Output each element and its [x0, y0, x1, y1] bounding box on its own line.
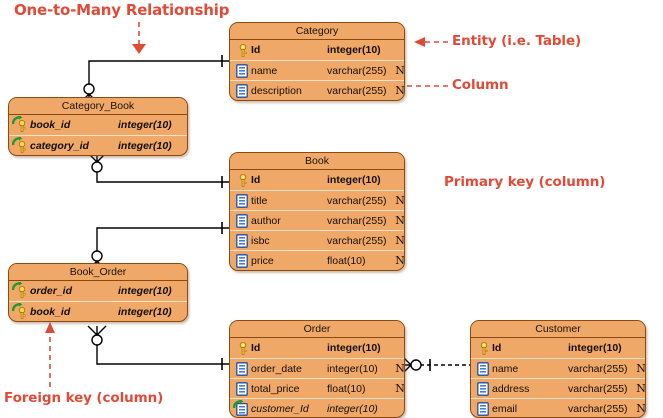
nullable-flag: N [393, 214, 405, 227]
column-icon [475, 380, 492, 398]
table-row[interactable]: Id integer(10) [230, 40, 404, 60]
table-row[interactable]: Id integer(10) [230, 338, 404, 358]
column-icon [234, 62, 251, 80]
column-type: integer(10) [327, 403, 393, 415]
key-fk-icon [13, 303, 30, 321]
column-name: Id [251, 342, 327, 354]
column-type: varchar(255) [327, 65, 393, 77]
column-fk-icon [234, 400, 251, 418]
column-type: integer(10) [327, 174, 393, 186]
column-icon [234, 212, 251, 230]
column-icon [475, 400, 492, 418]
entity-columns: Id integer(10) name varchar(255) N addre… [471, 338, 645, 418]
column-icon [234, 192, 251, 210]
column-type: varchar(255) [568, 403, 634, 415]
column-name: book_id [30, 306, 118, 318]
column-type: varchar(255) [568, 363, 634, 375]
entity-title: Book_Order [9, 264, 187, 281]
column-name: name [251, 65, 327, 77]
column-name: price [251, 255, 327, 267]
nullable-flag: N [393, 234, 405, 247]
column-name: Id [251, 44, 327, 56]
column-name: title [251, 195, 327, 207]
entity-category-book[interactable]: Category_Book book_id integer(10) catego… [8, 97, 188, 156]
relationship-order-book_order [88, 326, 229, 370]
column-name: isbc [251, 235, 327, 247]
relationship-book-category_book [88, 153, 229, 188]
entity-title: Category [230, 23, 404, 40]
column-icon [234, 252, 251, 270]
annotation-entity: Entity (i.e. Table) [452, 33, 581, 49]
column-type: float(10) [327, 255, 393, 267]
column-name: order_id [30, 285, 118, 297]
key-icon [234, 41, 251, 59]
entity-columns: Id integer(10) title varchar(255) N auth… [230, 170, 404, 270]
table-row[interactable]: order_id integer(10) [9, 281, 187, 301]
column-name: Id [492, 342, 568, 354]
nullable-flag: N [634, 362, 646, 375]
table-row[interactable]: author varchar(255) N [230, 210, 404, 230]
entity-title: Customer [471, 321, 645, 338]
relationship-customer-order [402, 356, 470, 374]
key-fk-icon [13, 282, 30, 300]
foreign-key-annotation-leader [45, 322, 55, 387]
table-row[interactable]: description varchar(255) N [230, 80, 404, 100]
column-type: integer(10) [118, 285, 184, 297]
table-row[interactable]: customer_Id integer(10) [230, 398, 404, 418]
column-icon [234, 82, 251, 100]
table-row[interactable]: Id integer(10) [230, 170, 404, 190]
column-type: float(10) [327, 383, 393, 395]
entity-order[interactable]: Order Id integer(10) order_date integer(… [229, 320, 405, 418]
column-name: customer_Id [251, 403, 327, 415]
table-row[interactable]: address varchar(255) N [471, 378, 645, 398]
table-row[interactable]: isbc varchar(255) N [230, 230, 404, 250]
column-name: address [492, 383, 568, 395]
annotation-foreign-key: Foreign key (column) [4, 390, 163, 406]
diagram-heading: One-to-Many Relationship [14, 1, 229, 19]
column-type: integer(10) [118, 140, 184, 152]
entity-title: Book [230, 153, 404, 170]
column-type: varchar(255) [568, 383, 634, 395]
entity-book-order[interactable]: Book_Order order_id integer(10) book_id … [8, 263, 188, 322]
column-type: integer(10) [118, 119, 184, 131]
column-type: integer(10) [327, 342, 393, 354]
key-fk-icon [13, 116, 30, 134]
column-icon [234, 360, 251, 378]
column-name: book_id [30, 119, 118, 131]
entity-title: Category_Book [9, 98, 187, 115]
nullable-flag: N [393, 362, 405, 375]
relationship-category-category_book [80, 55, 229, 103]
table-row[interactable]: book_id integer(10) [9, 301, 187, 321]
column-type: integer(10) [568, 342, 634, 354]
annotation-column: Column [452, 77, 509, 93]
column-type: integer(10) [327, 363, 393, 375]
table-row[interactable]: email varchar(255) N [471, 398, 645, 418]
table-row[interactable]: name varchar(255) N [230, 60, 404, 80]
table-row[interactable]: order_date integer(10) N [230, 358, 404, 378]
entity-category[interactable]: Category Id integer(10) name varchar(255… [229, 22, 405, 101]
nullable-flag: N [393, 64, 405, 77]
column-type: varchar(255) [327, 215, 393, 227]
table-row[interactable]: price float(10) N [230, 250, 404, 270]
table-row[interactable]: name varchar(255) N [471, 358, 645, 378]
column-type: integer(10) [327, 44, 393, 56]
column-name: name [492, 363, 568, 375]
key-fk-icon [13, 137, 30, 155]
heading-arrow-leader [132, 22, 146, 54]
nullable-flag: N [634, 382, 646, 395]
entity-columns: Id integer(10) order_date integer(10) N … [230, 338, 404, 418]
nullable-flag: N [393, 84, 405, 97]
table-row[interactable]: category_id integer(10) [9, 135, 187, 155]
nullable-flag: N [634, 402, 646, 415]
column-name: author [251, 215, 327, 227]
column-type: varchar(255) [327, 235, 393, 247]
column-icon [234, 380, 251, 398]
nullable-flag: N [393, 194, 405, 207]
entity-columns: order_id integer(10) book_id integer(10) [9, 281, 187, 321]
nullable-flag: N [393, 254, 405, 267]
column-name: Id [251, 174, 327, 186]
column-name: email [492, 403, 568, 415]
column-name: description [251, 85, 327, 97]
entity-book[interactable]: Book Id integer(10) title varchar(255) N [229, 152, 405, 271]
annotation-primary-key: Primary key (column) [444, 174, 605, 190]
entity-annotation-leader [414, 37, 448, 47]
table-row[interactable]: title varchar(255) N [230, 190, 404, 210]
er-diagram-canvas: One-to-Many Relationship Entity (i.e. Ta… [0, 0, 663, 418]
key-icon [234, 339, 251, 357]
entity-columns: Id integer(10) name varchar(255) N descr… [230, 40, 404, 100]
table-row[interactable]: book_id integer(10) [9, 115, 187, 135]
column-type: varchar(255) [327, 195, 393, 207]
column-name: total_price [251, 383, 327, 395]
entity-customer[interactable]: Customer Id integer(10) name varchar(255… [470, 320, 646, 418]
column-type: varchar(255) [327, 85, 393, 97]
nullable-flag: N [393, 382, 405, 395]
entity-columns: book_id integer(10) category_id integer(… [9, 115, 187, 155]
entity-title: Order [230, 321, 404, 338]
key-icon [475, 339, 492, 357]
column-name: category_id [30, 140, 118, 152]
key-icon [234, 171, 251, 189]
table-row[interactable]: Id integer(10) [471, 338, 645, 358]
column-type: integer(10) [118, 306, 184, 318]
table-row[interactable]: total_price float(10) N [230, 378, 404, 398]
column-icon [475, 360, 492, 378]
column-icon [234, 232, 251, 250]
column-name: order_date [251, 363, 327, 375]
